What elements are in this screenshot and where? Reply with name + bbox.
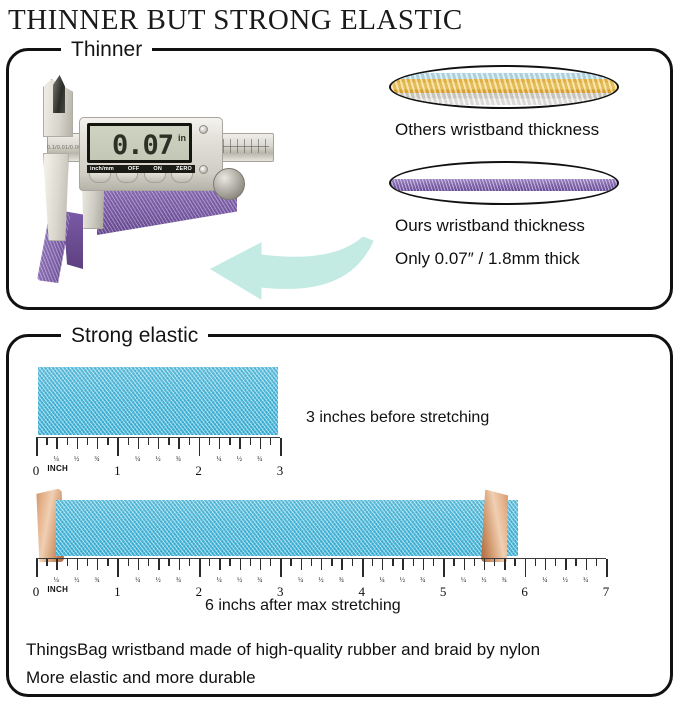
panel-elastic-legend: Strong elastic <box>61 321 208 351</box>
ruler-tick <box>138 438 139 449</box>
ruler-tick <box>158 559 159 570</box>
ruler-tick <box>606 559 608 577</box>
ruler-tick <box>87 559 88 566</box>
ruler-tick <box>250 559 251 566</box>
caliper-buttons <box>89 173 193 183</box>
ruler-tick <box>87 438 88 445</box>
ruler-fraction-label: ¼ <box>135 455 140 463</box>
ruler-tick <box>280 438 282 456</box>
ruler-number-label: 6 <box>521 584 528 600</box>
ruler-unstretched: ¼½¾¼½¾¼½¾0123INCH <box>36 437 280 483</box>
ruler-fraction-label: ¾ <box>257 576 262 584</box>
ruler-fraction-label: ½ <box>400 576 405 584</box>
ruler-tick <box>535 559 536 566</box>
ruler-tick <box>260 438 261 449</box>
ruler-fraction-label: ½ <box>318 576 323 584</box>
ruler-tick <box>209 438 210 445</box>
cyan-band-stretched <box>56 500 518 556</box>
ruler-fraction-label: ¾ <box>420 576 425 584</box>
caliper-reading-unit: in <box>178 133 186 143</box>
caliper-reading-value: 0.07 <box>112 132 173 159</box>
others-thickness-label: Others wristband thickness <box>395 117 671 142</box>
ruler-fraction-label: ¼ <box>379 576 384 584</box>
ruler-tick <box>138 559 139 570</box>
caliper-screw-bottom <box>199 165 208 174</box>
ruler-tick <box>494 559 495 566</box>
ruler-tick <box>56 438 57 449</box>
curved-left-arrow-icon <box>205 237 375 301</box>
ruler-tick <box>107 559 108 566</box>
ours-thickness-label: Ours wristband thickness <box>395 213 671 238</box>
page-title: THINNER BUT STRONG ELASTIC <box>0 0 679 38</box>
ruler-tick <box>280 559 282 577</box>
ruler-tick <box>392 559 393 566</box>
ours-thickness-group: Ours wristband thickness Only 0.07″ / 1.… <box>381 161 671 271</box>
ruler-tick <box>36 438 38 456</box>
ruler-number-label: 0 <box>33 463 40 479</box>
ruler-tick <box>362 559 364 577</box>
ruler-fraction-label: ¾ <box>257 455 262 463</box>
ruler-number-label: 2 <box>196 584 203 600</box>
ruler-tick <box>128 559 129 566</box>
ruler-tick <box>219 559 220 570</box>
ruler-tick <box>46 559 47 566</box>
ruler-fraction-label: ¼ <box>135 576 140 584</box>
ruler-fraction-label: ¼ <box>461 576 466 584</box>
ruler-tick <box>443 559 445 577</box>
caliper-thumb-wheel <box>213 168 245 200</box>
page-title-text: THINNER BUT STRONG ELASTIC <box>8 4 463 36</box>
ours-thickness-spec: Only 0.07″ / 1.8mm thick <box>395 246 671 271</box>
ruler-tick <box>484 559 485 570</box>
ruler-tick <box>148 438 149 445</box>
ruler-tick <box>260 559 261 570</box>
ruler-tick <box>77 559 78 570</box>
ruler-tick <box>168 438 169 445</box>
ruler-tick <box>67 559 68 566</box>
ruler-fraction-label: ¾ <box>339 576 344 584</box>
ruler-tick <box>229 559 230 566</box>
ruler-fraction-label: ¾ <box>583 576 588 584</box>
cyan-band-unstretched <box>38 367 278 435</box>
caliper-button-on <box>144 173 166 183</box>
ruler-number-label: 1 <box>114 463 121 479</box>
ruler-fraction-label: ½ <box>74 576 79 584</box>
ruler-fraction-label: ½ <box>237 576 242 584</box>
footer-text-line-2: More elastic and more durable <box>26 668 256 688</box>
ruler-tick <box>46 438 47 445</box>
ruler-number-label: 5 <box>440 584 447 600</box>
others-thickness-ellipse <box>389 65 619 109</box>
ruler-tick <box>250 438 251 445</box>
finger-right <box>481 488 511 562</box>
ruler-tick <box>179 559 180 570</box>
ruler-tick <box>189 559 190 566</box>
ruler-tick <box>158 438 159 449</box>
others-thickness-group: Others wristband thickness <box>381 65 671 142</box>
caption-after-stretching: 6 inchs after max stretching <box>205 597 401 615</box>
caliper-knife-edge <box>53 75 65 113</box>
ruler-tick <box>525 559 527 577</box>
ruler-tick <box>219 438 220 449</box>
ruler-fraction-label: ¼ <box>54 576 59 584</box>
ruler-tick <box>209 559 210 566</box>
caliper-button-inchmm <box>89 173 111 183</box>
ruler-tick <box>413 559 414 566</box>
ruler-fraction-label: ¼ <box>298 576 303 584</box>
ruler-number-label: 3 <box>277 463 284 479</box>
ruler-tick <box>290 559 291 566</box>
ruler-tick <box>352 559 353 566</box>
ruler-tick <box>423 559 424 570</box>
ruler-tick <box>453 559 454 566</box>
caliper-label-on: ON <box>153 166 162 172</box>
ruler-tick <box>117 438 119 456</box>
ruler-fraction-label: ½ <box>155 455 160 463</box>
caliper-button-labels: inch/mm OFF ON ZERO <box>87 165 195 173</box>
ruler-fraction-label: ¾ <box>94 576 99 584</box>
caliper-button-off <box>116 173 138 183</box>
ruler-tick <box>270 438 271 445</box>
ruler-tick <box>311 559 312 566</box>
ruler-tick <box>97 559 98 570</box>
ruler-fraction-label: ¼ <box>54 455 59 463</box>
others-band-cross-section <box>391 73 617 105</box>
ruler-tick <box>199 438 201 456</box>
ruler-tick <box>128 438 129 445</box>
ruler-tick <box>168 559 169 566</box>
ruler-fraction-label: ¾ <box>176 455 181 463</box>
ours-thickness-ellipse <box>389 161 619 205</box>
caliper-screw-top <box>199 125 208 134</box>
ruler-tick <box>199 559 201 577</box>
ruler-tick <box>67 438 68 445</box>
ruler-tick <box>189 438 190 445</box>
ruler-fraction-label: ¼ <box>542 576 547 584</box>
ruler-tick <box>229 438 230 445</box>
ruler-fraction-label: ¾ <box>176 576 181 584</box>
ruler-tick <box>36 559 38 577</box>
ruler-tick <box>97 438 98 449</box>
ruler-tick <box>240 559 241 570</box>
ruler-unit-label: INCH <box>47 464 68 473</box>
caliper-button-zero <box>171 173 193 183</box>
caliper-lcd-screen: 0.07 in <box>87 123 192 163</box>
ruler-fraction-label: ½ <box>156 576 161 584</box>
ruler-number-label: 0 <box>33 584 40 600</box>
ruler-tick <box>117 559 119 577</box>
ruler-fraction-label: ½ <box>563 576 568 584</box>
ruler-tick <box>239 438 240 449</box>
ruler-tick <box>575 559 576 566</box>
ruler-fraction-label: ¼ <box>217 576 222 584</box>
ruler-tick <box>565 559 566 570</box>
ruler-tick <box>504 559 505 570</box>
ruler-tick <box>402 559 403 570</box>
ruler-number-label: 7 <box>603 584 610 600</box>
panel-thinner: Thinner 0.1/0.01/0.001 0.07 in inch/mm O… <box>6 48 673 310</box>
ruler-tick <box>586 559 587 570</box>
ruler-tick <box>341 559 342 570</box>
ruler-fraction-label: ¾ <box>94 455 99 463</box>
ruler-fraction-label: ½ <box>74 455 79 463</box>
footer-text-line-1: ThingsBag wristband made of high-quality… <box>26 640 540 660</box>
ruler-tick <box>178 438 179 449</box>
ruler-tick <box>433 559 434 566</box>
ruler-number-label: 2 <box>195 463 202 479</box>
ruler-tick <box>331 559 332 566</box>
caliper-label-inchmm: inch/mm <box>90 166 114 172</box>
ruler-tick <box>464 559 465 570</box>
caliper-label-zero: ZERO <box>176 166 192 172</box>
caption-before-stretching: 3 inches before stretching <box>306 409 489 427</box>
ruler-tick <box>545 559 546 570</box>
ruler-tick <box>382 559 383 570</box>
ruler-tick <box>56 559 57 570</box>
ruler-tick <box>107 438 108 445</box>
ruler-fraction-label: ¾ <box>502 576 507 584</box>
ruler-tick <box>77 438 78 449</box>
ruler-fraction-label: ½ <box>237 455 242 463</box>
ruler-tick <box>270 559 271 566</box>
ruler-tick <box>596 559 597 566</box>
ruler-tick <box>372 559 373 566</box>
ruler-unit-label: INCH <box>47 585 68 594</box>
ruler-tick <box>148 559 149 566</box>
ruler-number-label: 1 <box>114 584 121 600</box>
ruler-tick <box>514 559 515 566</box>
ruler-tick <box>555 559 556 566</box>
ruler-tick <box>321 559 322 570</box>
ruler-tick <box>474 559 475 566</box>
caliper-label-off: OFF <box>128 166 140 172</box>
ruler-fraction-label: ½ <box>481 576 486 584</box>
ruler-tick <box>301 559 302 570</box>
ruler-fraction-label: ¼ <box>216 455 221 463</box>
ours-band-cross-section <box>391 179 617 191</box>
